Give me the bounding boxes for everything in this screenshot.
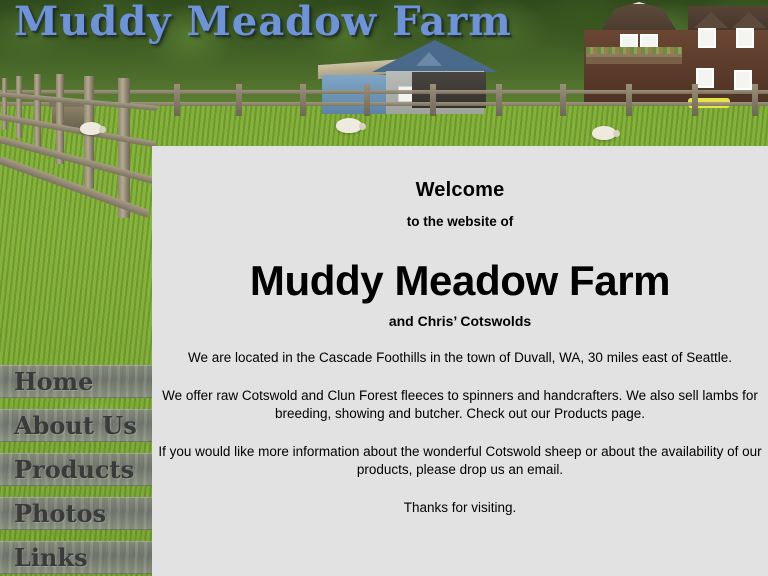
page-root: Muddy Meadow Farm Home About Us Products… — [0, 0, 768, 576]
nav-item-products[interactable]: Products — [0, 453, 152, 486]
nav-item-label: About Us — [14, 410, 137, 439]
main-navigation: Home About Us Products Photos Links — [0, 365, 152, 576]
nav-item-label: Home — [14, 366, 93, 395]
paragraph-products: We offer raw Cotswold and Clun Forest fl… — [152, 367, 768, 423]
welcome-heading: Welcome — [152, 146, 768, 202]
sheep — [592, 126, 616, 140]
paragraph-contact: If you would like more information about… — [152, 423, 768, 479]
sheep — [80, 122, 102, 135]
sheep — [336, 118, 362, 133]
nav-item-label: Products — [14, 454, 134, 483]
nav-item-home[interactable]: Home — [0, 365, 152, 398]
nav-item-photos[interactable]: Photos — [0, 497, 152, 530]
nav-item-links[interactable]: Links — [0, 541, 152, 574]
paragraph-location: We are located in the Cascade Foothills … — [152, 329, 768, 367]
farm-name-heading: Muddy Meadow Farm — [152, 229, 768, 304]
farm-tagline: and Chris’ Cotswolds — [152, 304, 768, 329]
nav-item-label: Links — [14, 542, 88, 571]
paragraph-thanks: Thanks for visiting. — [152, 479, 768, 517]
nav-item-label: Photos — [14, 498, 106, 527]
nav-item-about-us[interactable]: About Us — [0, 409, 152, 442]
welcome-subheading: to the website of — [152, 202, 768, 229]
site-title: Muddy Meadow Farm — [14, 0, 512, 45]
foreground-fence — [0, 52, 158, 302]
content-panel: Welcome to the website of Muddy Meadow F… — [152, 146, 768, 576]
